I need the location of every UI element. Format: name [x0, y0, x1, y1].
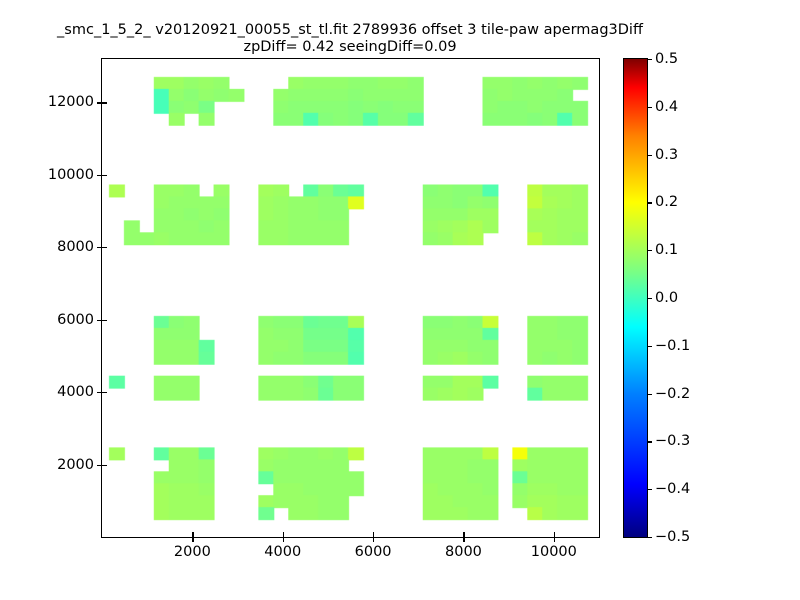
x-tick-label: 10000 [531, 544, 577, 560]
y-tick-mark-inner [102, 247, 107, 248]
colorbar-tick-mark [647, 107, 652, 108]
y-tick-mark-inner [102, 392, 107, 393]
y-tick-mark-inner [102, 465, 107, 466]
title-line-1: _smc_1_5_2_ v20120921_00055_st_tl.fit 27… [0, 22, 700, 39]
y-tick-label: 4000 [57, 384, 94, 400]
colorbar-tick-label: −0.2 [655, 386, 690, 402]
colorbar-tick-mark [647, 346, 652, 347]
colorbar-tick-label: 0.1 [655, 242, 678, 258]
y-tick-label: 12000 [48, 94, 94, 110]
colorbar-tick-label: −0.5 [655, 529, 690, 545]
x-tick-mark [192, 537, 193, 542]
colorbar-tick-label: 0.0 [655, 290, 678, 306]
y-tick-label: 10000 [48, 167, 94, 183]
x-tick-mark-inner [192, 532, 193, 537]
colorbar-tick-label: 0.4 [655, 99, 678, 115]
colorbar-tick-mark [647, 537, 652, 538]
plot-title: _smc_1_5_2_ v20120921_00055_st_tl.fit 27… [0, 22, 700, 56]
x-tick-label: 4000 [264, 544, 301, 560]
colorbar-tick-mark [647, 394, 652, 395]
x-tick-mark [554, 537, 555, 542]
y-tick-mark-inner [102, 320, 107, 321]
x-tick-mark [373, 537, 374, 542]
x-tick-mark-inner [283, 532, 284, 537]
x-tick-label: 8000 [445, 544, 482, 560]
colorbar-tick-mark [647, 298, 652, 299]
colorbar-tick-mark [647, 202, 652, 203]
colorbar-tick-label: −0.4 [655, 481, 690, 497]
heatmap-axes: 20004000600080001000012000 2000400060008… [101, 58, 600, 538]
x-tick-mark-inner [373, 532, 374, 537]
colorbar-tick-mark [647, 59, 652, 60]
x-tick-mark-inner [463, 532, 464, 537]
y-tick-label: 6000 [57, 312, 94, 328]
title-line-2: zpDiff= 0.42 seeingDiff=0.09 [0, 39, 700, 56]
colorbar-tick-label: 0.3 [655, 147, 678, 163]
y-tick-label: 8000 [57, 239, 94, 255]
colorbar-tick-mark [647, 489, 652, 490]
x-tick-mark [283, 537, 284, 542]
x-tick-label: 2000 [174, 544, 211, 560]
x-tick-label: 6000 [355, 544, 392, 560]
x-tick-mark [463, 537, 464, 542]
colorbar-tick-label: −0.3 [655, 433, 690, 449]
heatmap-image [102, 59, 599, 537]
colorbar-tick-label: 0.2 [655, 194, 678, 210]
colorbar-tick-label: −0.1 [655, 338, 690, 354]
y-tick-label: 2000 [57, 457, 94, 473]
y-tick-mark-inner [102, 175, 107, 176]
y-tick-mark-inner [102, 102, 107, 103]
x-tick-mark-inner [554, 532, 555, 537]
colorbar-tick-label: 0.5 [655, 51, 678, 67]
colorbar-tick-mark [647, 441, 652, 442]
colorbar: −0.5−0.4−0.3−0.2−0.10.00.10.20.30.40.5 [623, 58, 648, 538]
figure-canvas: _smc_1_5_2_ v20120921_00055_st_tl.fit 27… [0, 0, 800, 600]
colorbar-tick-mark [647, 250, 652, 251]
colorbar-tick-mark [647, 155, 652, 156]
